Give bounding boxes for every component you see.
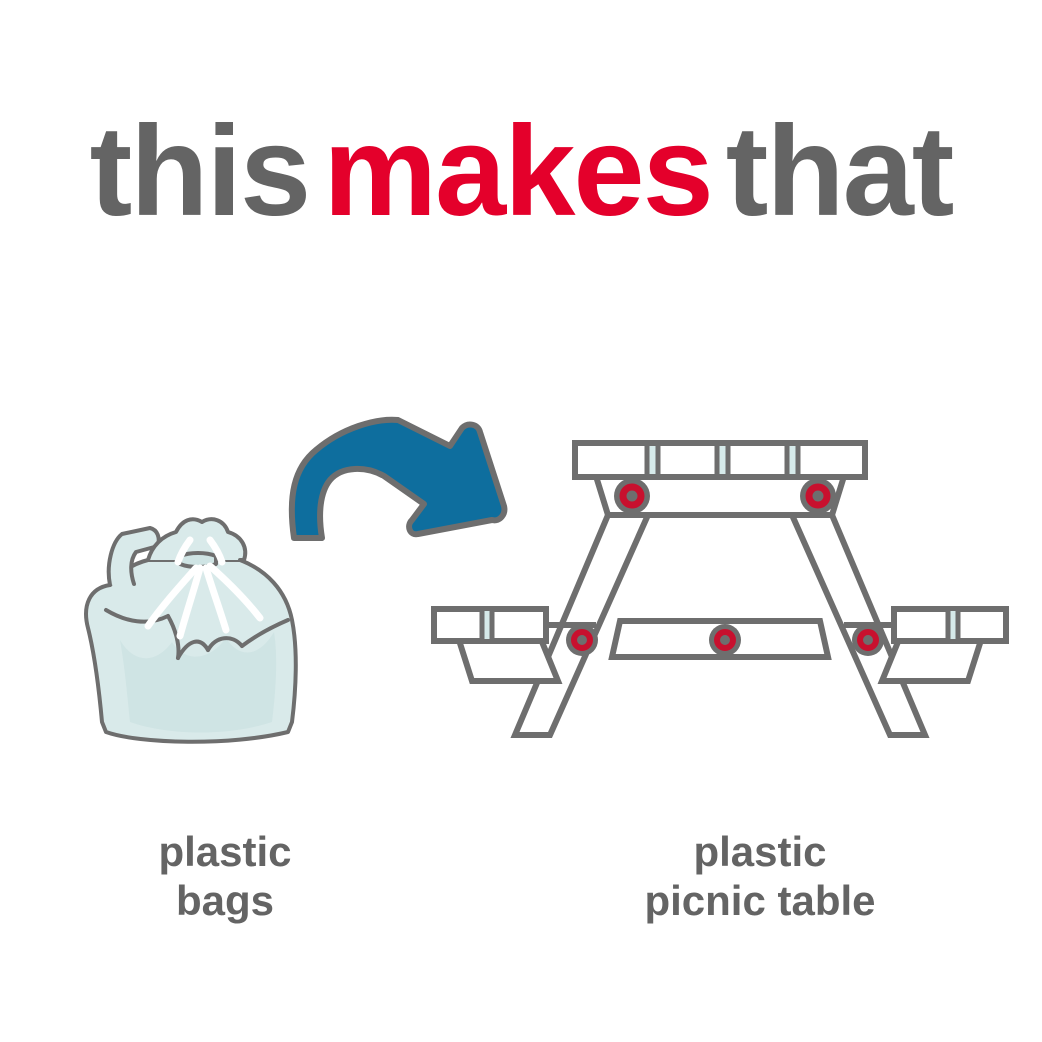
- picnic-table-illustration: [420, 425, 1020, 765]
- headline-word-that: that: [726, 108, 953, 236]
- bolt: [852, 624, 884, 656]
- caption-plastic-picnic-table: plastic picnic table: [520, 828, 1000, 925]
- bolt: [566, 624, 598, 656]
- bolt: [709, 624, 741, 656]
- bolt: [800, 478, 836, 514]
- page-title: thismakesthat: [0, 108, 1042, 236]
- caption-left-line-1: plastic: [30, 828, 420, 877]
- caption-plastic-bags: plastic bags: [30, 828, 420, 925]
- headline-word-makes: makes: [323, 108, 712, 236]
- picnic-table-svg: [420, 425, 1020, 765]
- caption-left-line-2: bags: [30, 877, 420, 926]
- poster-canvas: thismakesthat: [0, 0, 1042, 1042]
- headline-word-this: this: [90, 108, 310, 236]
- caption-right-line-1: plastic: [520, 828, 1000, 877]
- caption-right-line-2: picnic table: [520, 877, 1000, 926]
- illustration-stage: [0, 380, 1042, 800]
- bolt: [614, 478, 650, 514]
